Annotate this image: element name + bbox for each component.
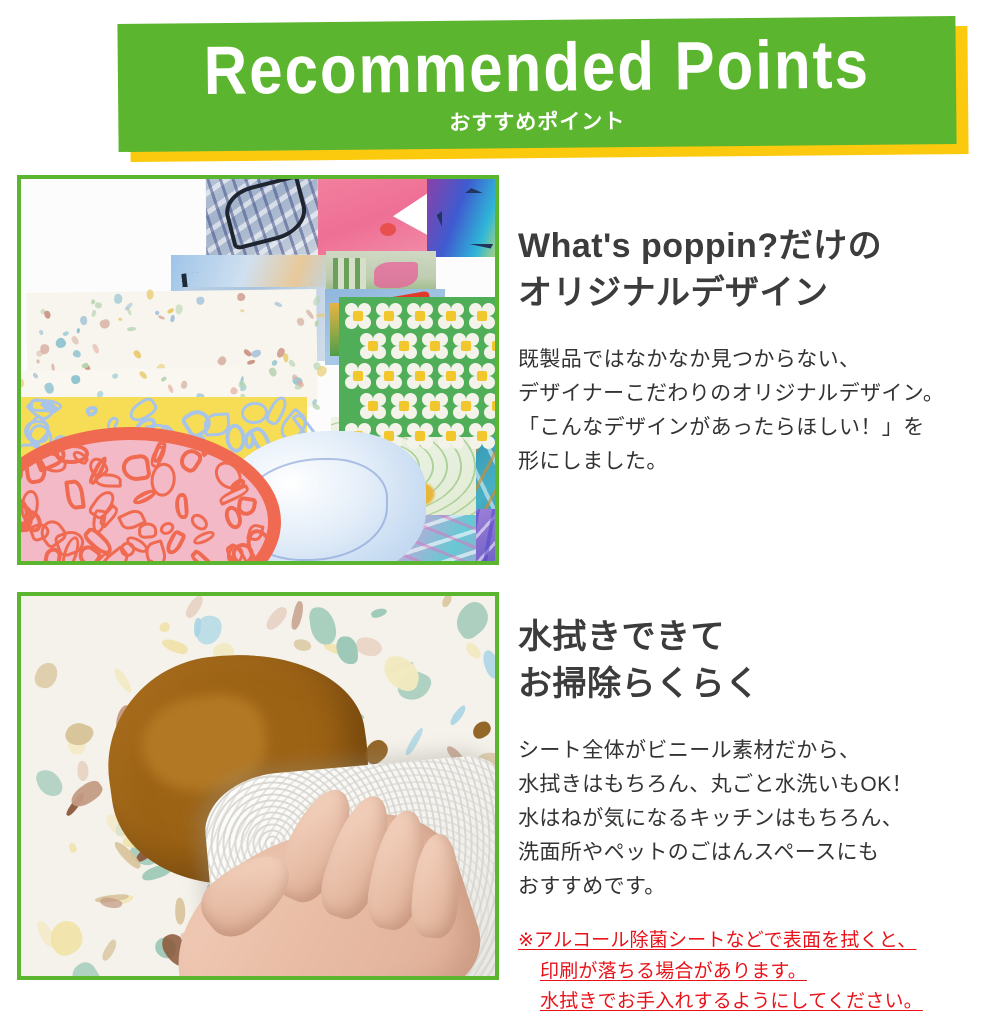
sheet-graffiti-blue xyxy=(206,179,319,255)
flower-motif xyxy=(469,423,495,449)
flower-motif xyxy=(345,303,371,329)
sheet-marble-purple xyxy=(476,509,495,561)
note-caution: ※アルコール除菌シートなどで表面を拭くと、 印刷が落ちる場合があります。 水拭き… xyxy=(518,926,996,1018)
note-caution-line1: ※アルコール除菌シートなどで表面を拭くと、 xyxy=(518,930,916,951)
heading-wipe-line1: 水拭きできて xyxy=(518,614,996,661)
flower-motif xyxy=(376,363,402,389)
body-wipe-line3: 水はねが気になるキッチンはもちろん、 xyxy=(518,802,996,836)
page-title: Recommended Points xyxy=(203,30,870,105)
flower-motif xyxy=(376,303,402,329)
body-design: 既製品ではなかなか見つからない、 デザイナーこだわりのオリジナルデザイン。 「こ… xyxy=(518,343,996,479)
heading-design-line2: オリジナルデザイン xyxy=(518,270,996,317)
photo-design-collage-inner xyxy=(21,179,495,561)
flower-motif xyxy=(345,363,371,389)
flower-motif xyxy=(422,333,448,359)
text-block-design: What's poppin?だけの オリジナルデザイン 既製品ではなかなか見つか… xyxy=(518,223,996,479)
sheet-graffiti-pink xyxy=(318,179,428,257)
banner-green-panel: Recommended Points おすすめポイント xyxy=(117,16,956,152)
page-subtitle: おすすめポイント xyxy=(449,111,625,134)
photo-wipe-demo xyxy=(17,592,499,980)
flower-motif xyxy=(407,423,433,449)
flower-motif xyxy=(407,363,433,389)
flower-motif xyxy=(438,363,464,389)
header-banner: Recommended Points おすすめポイント xyxy=(0,0,1000,168)
note-caution-line3: 水拭きでお手入れするようにしてください。 xyxy=(540,991,923,1012)
body-design-line3: 「こんなデザインがあったらほしい！」を xyxy=(518,411,996,445)
sheet-graffiti-multicolor xyxy=(427,179,495,257)
flower-motif xyxy=(360,333,386,359)
flower-motif xyxy=(407,303,433,329)
body-wipe-line4: 洗面所やペットのごはんスペースにも xyxy=(518,836,996,870)
heading-wipe: 水拭きできて お掃除らくらく xyxy=(518,614,996,708)
body-wipe-line2: 水拭きはもちろん、丸ごと水洗いもOK！ xyxy=(518,768,996,802)
heading-wipe-line2: お掃除らくらく xyxy=(518,661,996,708)
flower-motif xyxy=(453,393,479,419)
flower-motif xyxy=(484,393,495,419)
flower-motif xyxy=(438,423,464,449)
heading-design-line1: What's poppin?だけの xyxy=(518,223,996,270)
flower-motif xyxy=(453,333,479,359)
note-caution-line2: 印刷が落ちる場合があります。 xyxy=(540,961,807,982)
flower-motif xyxy=(438,303,464,329)
flower-motif xyxy=(469,363,495,389)
body-wipe-line5: おすすめです。 xyxy=(518,870,996,904)
heading-design: What's poppin?だけの オリジナルデザイン xyxy=(518,223,996,317)
body-design-line2: デザイナーこだわりのオリジナルデザイン。 xyxy=(518,377,996,411)
text-block-wipe: 水拭きできて お掃除らくらく シート全体がビニール素材だから、 水拭きはもちろん… xyxy=(518,614,996,1018)
photo-design-collage xyxy=(17,175,499,565)
flower-motif xyxy=(391,333,417,359)
body-design-line4: 形にしました。 xyxy=(518,445,996,479)
flower-motif xyxy=(360,393,386,419)
flower-motif xyxy=(484,333,495,359)
sheet-pink-round-mat xyxy=(21,427,281,561)
flower-motif xyxy=(469,303,495,329)
flower-motif xyxy=(422,393,448,419)
body-wipe: シート全体がビニール素材だから、 水拭きはもちろん、丸ごと水洗いもOK！ 水はね… xyxy=(518,734,996,904)
sheet-green-flower xyxy=(339,297,495,437)
body-wipe-line1: シート全体がビニール素材だから、 xyxy=(518,734,996,768)
flower-motif xyxy=(391,393,417,419)
photo-wipe-demo-inner xyxy=(21,596,495,976)
body-design-line1: 既製品ではなかなか見つからない、 xyxy=(518,343,996,377)
